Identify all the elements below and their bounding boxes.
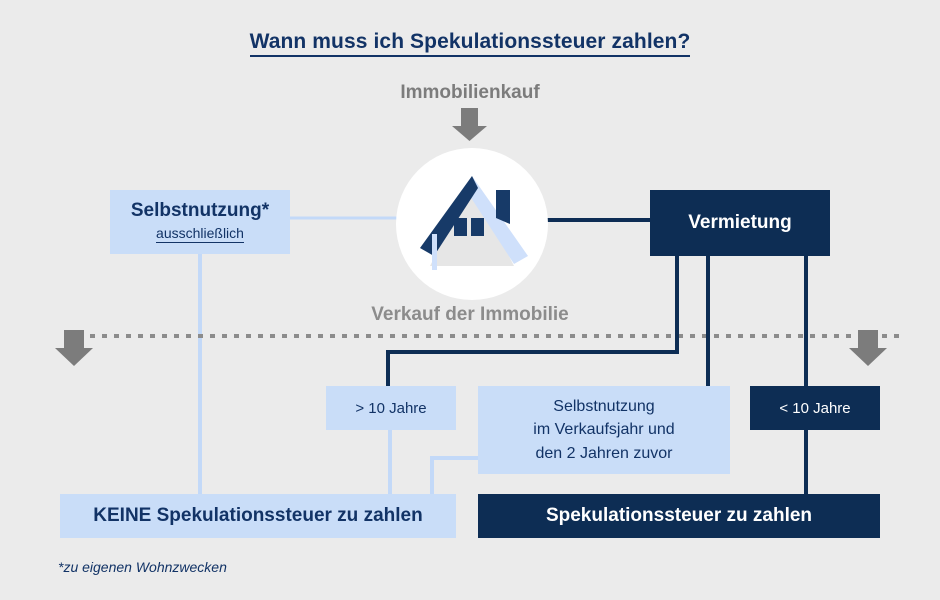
box-selbstnutzung[interactable]: Selbstnutzung* ausschließlich xyxy=(110,190,290,254)
box-less-10-jahre[interactable]: < 10 Jahre xyxy=(750,386,880,430)
box-greater-10-jahre[interactable]: > 10 Jahre xyxy=(326,386,456,430)
box-vermietung[interactable]: Vermietung xyxy=(650,190,830,256)
arrow-down-icon-top xyxy=(452,108,487,141)
house-icon-glyph xyxy=(396,148,548,300)
house-icon xyxy=(396,148,548,300)
footnote: *zu eigenen Wohnzwecken xyxy=(58,559,227,575)
box-selbstnutzung-verkaufsjahr-line1: Selbstnutzung xyxy=(553,395,654,418)
arrow-down-icon-right xyxy=(849,330,887,366)
box-keine-spekulationssteuer[interactable]: KEINE Spekulationssteuer zu zahlen xyxy=(60,494,456,538)
box-selbstnutzung-verkaufsjahr-line3: den 2 Jahren zuvor xyxy=(536,442,673,465)
box-selbstnutzung-verkaufsjahr-line2: im Verkaufsjahr und xyxy=(533,418,674,441)
box-spekulationssteuer-label: Spekulationssteuer zu zahlen xyxy=(546,505,812,527)
box-vermietung-title: Vermietung xyxy=(688,212,791,234)
box-selbstnutzung-title: Selbstnutzung* xyxy=(131,201,269,222)
box-selbstnutzung-subtitle: ausschließlich xyxy=(156,226,244,243)
infographic-canvas: Wann muss ich Spekulationssteuer zahlen?… xyxy=(0,0,940,600)
arrow-down-icon-left xyxy=(55,330,93,366)
box-greater-10-jahre-label: > 10 Jahre xyxy=(355,400,426,417)
box-spekulationssteuer[interactable]: Spekulationssteuer zu zahlen xyxy=(478,494,880,538)
box-selbstnutzung-verkaufsjahr[interactable]: Selbstnutzung im Verkaufsjahr und den 2 … xyxy=(478,386,730,474)
box-less-10-jahre-label: < 10 Jahre xyxy=(779,400,850,417)
box-keine-spekulationssteuer-label: KEINE Spekulationssteuer zu zahlen xyxy=(93,505,422,527)
